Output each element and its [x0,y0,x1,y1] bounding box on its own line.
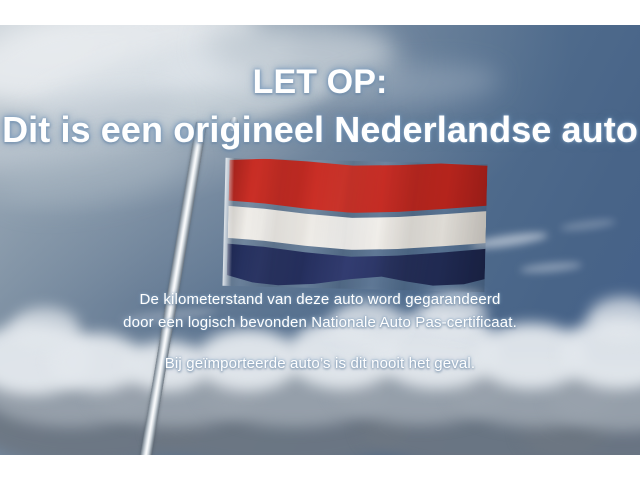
cirrus-haze [0,129,193,217]
headline-main: Dit is een origineel Nederlandse auto [0,108,640,152]
cirrus-haze [90,60,344,151]
cirrus-haze [0,78,184,184]
flagpole [138,122,207,455]
cirrus-haze [329,59,501,111]
body-text-line-2: door een logisch bevonden Nationale Auto… [0,314,640,331]
cirrus-haze [158,25,392,99]
cloud-wisp [520,260,583,274]
letterbox-bar-top [0,0,640,25]
flag-stripe-red [228,158,487,216]
cloud-wisp [560,218,617,233]
cirrus-haze [203,25,408,94]
body-text-line-3: Bij geïmporteerde auto’s is dit nooit he… [0,355,640,372]
cumulus-cloud-bank [0,271,640,455]
letterbox-bar-bottom [0,455,640,480]
netherlands-flag [226,158,487,292]
flagpole-finial [228,116,239,131]
banner-image: LET OP: Dit is een origineel Nederlandse… [0,0,640,480]
cirrus-haze [0,25,265,120]
cirrus-haze [27,25,303,141]
sky-photo-background: LET OP: Dit is een origineel Nederlandse… [0,25,640,455]
headline-attention: LET OP: [0,62,640,102]
body-text-line-1: De kilometerstand van deze auto word geg… [0,291,640,308]
cloud-wisp [300,322,420,340]
